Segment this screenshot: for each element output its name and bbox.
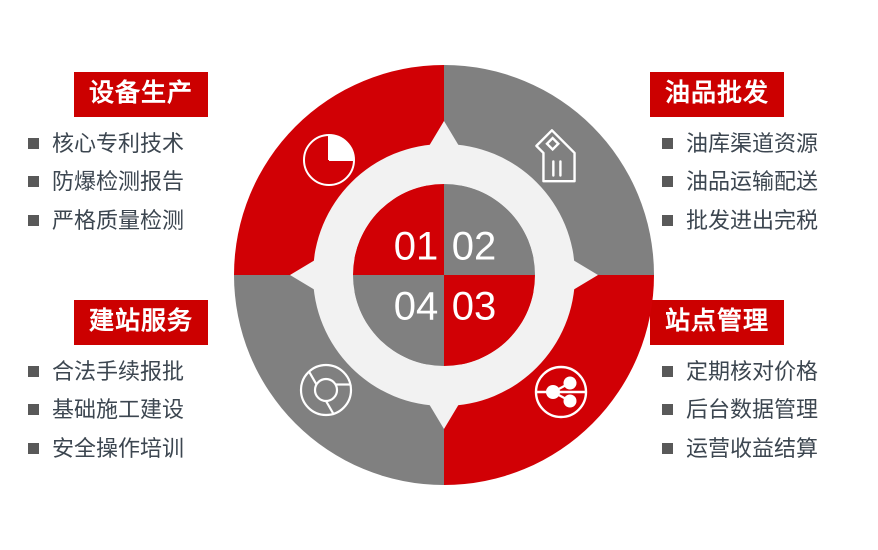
bullet-square-icon [28, 176, 39, 187]
panel-station-construction-service: 建站服务 合法手续报批 基础施工建设 安全操作培训 [28, 300, 268, 461]
bullet-square-icon [662, 176, 673, 187]
list-item: 基础施工建设 [28, 397, 268, 422]
list-item: 核心专利技术 [28, 131, 268, 156]
list-item: 定期核对价格 [662, 359, 876, 384]
bullet-list-station-management: 定期核对价格 后台数据管理 运营收益结算 [662, 359, 876, 461]
panel-oil-wholesale: 油品批发 油库渠道资源 油品运输配送 批发进出完税 [636, 72, 876, 233]
list-item-label: 批发进出完税 [686, 208, 818, 233]
list-item: 油品运输配送 [662, 169, 876, 194]
bullet-square-icon [662, 443, 673, 454]
bullet-square-icon [662, 404, 673, 415]
center-number-04: 04 [394, 285, 439, 329]
list-item-label: 油库渠道资源 [686, 131, 818, 156]
bullet-list-station-construction-service: 合法手续报批 基础施工建设 安全操作培训 [28, 359, 268, 461]
bullet-list-equipment-production: 核心专利技术 防爆检测报告 严格质量检测 [28, 131, 268, 233]
list-item: 安全操作培训 [28, 436, 268, 461]
bullet-square-icon [662, 138, 673, 149]
bullet-list-oil-wholesale: 油库渠道资源 油品运输配送 批发进出完税 [662, 131, 876, 233]
list-item-label: 严格质量检测 [52, 208, 184, 233]
list-item-label: 防爆检测报告 [52, 169, 184, 194]
list-item-label: 后台数据管理 [686, 397, 818, 422]
panel-station-management: 站点管理 定期核对价格 后台数据管理 运营收益结算 [636, 300, 876, 461]
list-item-label: 基础施工建设 [52, 397, 184, 422]
inner-circle-quadrants [353, 184, 535, 366]
center-number-01: 01 [394, 225, 439, 269]
bullet-square-icon [28, 138, 39, 149]
bullet-square-icon [28, 366, 39, 377]
list-item: 合法手续报批 [28, 359, 268, 384]
list-item: 严格质量检测 [28, 208, 268, 233]
bullet-square-icon [28, 215, 39, 226]
list-item-label: 合法手续报批 [52, 359, 184, 384]
panel-title-equipment-production: 设备生产 [74, 72, 208, 117]
center-number-02: 02 [452, 225, 497, 269]
panel-title-station-construction-service: 建站服务 [74, 300, 208, 345]
panel-title-station-management: 站点管理 [650, 300, 784, 345]
list-item-label: 油品运输配送 [686, 169, 818, 194]
list-item: 运营收益结算 [662, 436, 876, 461]
infographic-canvas: 设备生产 核心专利技术 防爆检测报告 严格质量检测 建站服务 合法手续报批 [0, 0, 878, 550]
bullet-square-icon [662, 366, 673, 377]
bullet-square-icon [28, 443, 39, 454]
panel-title-oil-wholesale: 油品批发 [650, 72, 784, 117]
circular-process-diagram: 01 02 03 04 [234, 65, 654, 485]
list-item: 后台数据管理 [662, 397, 876, 422]
panel-equipment-production: 设备生产 核心专利技术 防爆检测报告 严格质量检测 [28, 72, 268, 233]
list-item: 防爆检测报告 [28, 169, 268, 194]
bullet-square-icon [28, 404, 39, 415]
bullet-square-icon [662, 215, 673, 226]
list-item-label: 运营收益结算 [686, 436, 818, 461]
center-number-03: 03 [452, 285, 497, 329]
list-item-label: 核心专利技术 [52, 131, 184, 156]
list-item: 批发进出完税 [662, 208, 876, 233]
list-item-label: 定期核对价格 [686, 359, 818, 384]
list-item: 油库渠道资源 [662, 131, 876, 156]
list-item-label: 安全操作培训 [52, 436, 184, 461]
